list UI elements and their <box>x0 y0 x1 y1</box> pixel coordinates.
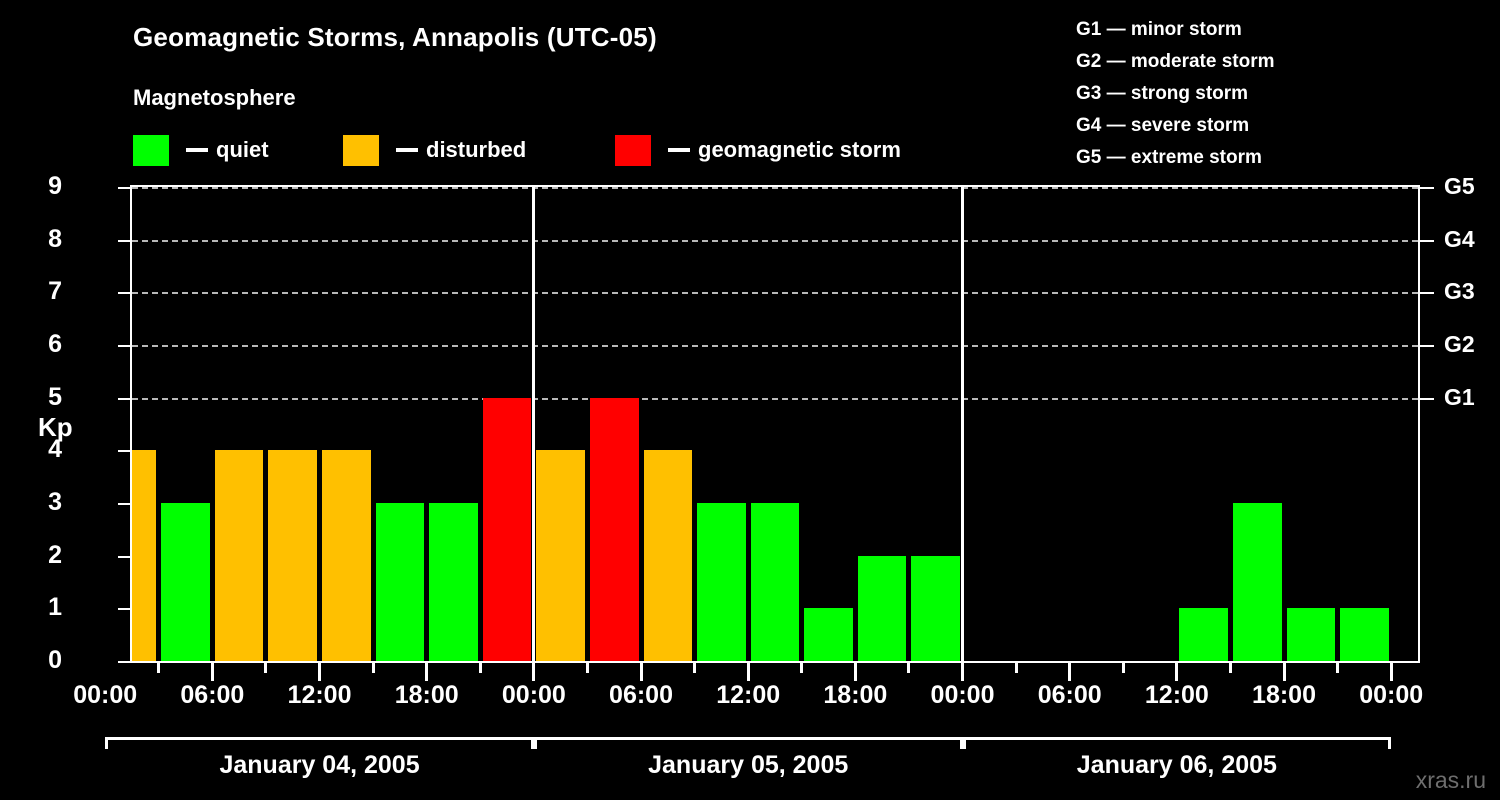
chart-subtitle: Magnetosphere <box>133 85 296 111</box>
bar <box>697 503 746 661</box>
g-tick-mark <box>1420 240 1434 242</box>
g-scale-legend: G1 — minor stormG2 — moderate stormG3 — … <box>1058 14 1478 174</box>
x-tick-minor <box>372 663 375 673</box>
bar <box>858 556 907 661</box>
y-tick-mark <box>118 556 130 558</box>
legend-item-quiet[interactable]: quiet <box>133 133 269 167</box>
legend-swatch-storm <box>615 135 651 166</box>
day-group: January 06, 2005 <box>963 737 1392 797</box>
x-tick-major <box>211 663 214 681</box>
bar <box>215 450 264 661</box>
day-brackets: January 04, 2005January 05, 2005January … <box>130 737 1420 797</box>
legend-item-storm[interactable]: geomagnetic storm <box>615 133 901 167</box>
bar <box>1287 608 1336 661</box>
legend-label-storm: geomagnetic storm <box>698 137 901 163</box>
bar <box>644 450 693 661</box>
y-tick-mark <box>118 345 130 347</box>
bar <box>483 398 532 661</box>
legend-swatch-disturbed <box>343 135 379 166</box>
watermark: xras.ru <box>1416 767 1486 794</box>
gridline-kp-7 <box>132 292 1418 294</box>
bar <box>429 503 478 661</box>
bar <box>322 450 371 661</box>
bar <box>268 450 317 661</box>
bar <box>376 503 425 661</box>
x-tick-label: 00:00 <box>1326 681 1456 710</box>
x-tick-major <box>961 663 964 681</box>
x-tick-minor <box>1229 663 1232 673</box>
legend-item-disturbed[interactable]: disturbed <box>343 133 526 167</box>
g-legend-line-3: G3 — strong storm <box>1058 78 1478 110</box>
x-tick-minor <box>693 663 696 673</box>
legend-swatch-quiet <box>133 135 169 166</box>
bar <box>132 450 156 661</box>
y-tick-label: 3 <box>22 490 62 515</box>
x-tick-major <box>1390 663 1393 681</box>
bar <box>1179 608 1228 661</box>
x-tick-major <box>640 663 643 681</box>
g-tick-mark <box>1420 398 1434 400</box>
x-tick-minor <box>157 663 160 673</box>
g-legend-line-1: G1 — minor storm <box>1058 14 1478 46</box>
y-tick-mark <box>118 292 130 294</box>
y-tick-label: 5 <box>22 385 62 410</box>
day-bracket-line <box>105 737 534 749</box>
bar <box>1233 503 1282 661</box>
g-tick-mark <box>1420 345 1434 347</box>
gridline-kp-5 <box>132 398 1418 400</box>
g-legend-line-5: G5 — extreme storm <box>1058 142 1478 174</box>
x-tick-major <box>425 663 428 681</box>
y-tick-label: 6 <box>22 332 62 357</box>
day-bracket-line <box>534 737 963 749</box>
y-tick-label: 2 <box>22 543 62 568</box>
day-separator <box>961 187 964 661</box>
y-tick-label: 9 <box>22 174 62 199</box>
bar <box>590 398 639 661</box>
bar <box>751 503 800 661</box>
x-tick-major <box>1068 663 1071 681</box>
g-tick-label: G5 <box>1444 175 1475 198</box>
x-tick-minor <box>1015 663 1018 673</box>
bar <box>1340 608 1389 661</box>
g-tick-mark <box>1420 187 1434 189</box>
day-separator <box>532 187 535 661</box>
legend-label-disturbed: disturbed <box>426 137 526 163</box>
day-label: January 06, 2005 <box>963 751 1392 780</box>
legend-dash-icon <box>668 148 690 152</box>
legend-dash-icon <box>186 148 208 152</box>
x-tick-minor <box>586 663 589 673</box>
chart-plot-area <box>130 185 1420 663</box>
x-tick-minor <box>800 663 803 673</box>
x-tick-minor <box>1122 663 1125 673</box>
bar <box>911 556 960 661</box>
day-group: January 05, 2005 <box>534 737 963 797</box>
y-tick-mark <box>118 240 130 242</box>
x-tick-major <box>532 663 535 681</box>
x-tick-major <box>1283 663 1286 681</box>
g-tick-label: G2 <box>1444 333 1475 356</box>
x-tick-minor <box>907 663 910 673</box>
y-tick-mark <box>118 608 130 610</box>
y-axis-label: Kp <box>38 412 73 443</box>
y-tick-mark <box>118 661 130 663</box>
page-title: Geomagnetic Storms, Annapolis (UTC-05) <box>133 22 657 53</box>
y-tick-mark <box>118 450 130 452</box>
g-tick-label: G4 <box>1444 228 1475 251</box>
y-tick-label: 8 <box>22 227 62 252</box>
day-bracket-line <box>963 737 1392 749</box>
x-axis: 00:0006:0012:0018:0000:0006:0012:0018:00… <box>130 663 1420 721</box>
day-group: January 04, 2005 <box>105 737 534 797</box>
x-tick-minor <box>479 663 482 673</box>
day-label: January 04, 2005 <box>105 751 534 780</box>
y-tick-mark <box>118 398 130 400</box>
bar <box>804 608 853 661</box>
x-tick-major <box>1175 663 1178 681</box>
x-tick-major <box>747 663 750 681</box>
gridline-kp-9 <box>132 187 1418 189</box>
y-tick-label: 0 <box>22 648 62 673</box>
gridline-kp-8 <box>132 240 1418 242</box>
x-tick-major <box>854 663 857 681</box>
y-tick-label: 1 <box>22 595 62 620</box>
x-tick-minor <box>264 663 267 673</box>
legend-label-quiet: quiet <box>216 137 269 163</box>
g-tick-mark <box>1420 292 1434 294</box>
y-tick-mark <box>118 503 130 505</box>
x-tick-minor <box>1336 663 1339 673</box>
g-legend-line-4: G4 — severe storm <box>1058 110 1478 142</box>
bar <box>536 450 585 661</box>
gridline-kp-6 <box>132 345 1418 347</box>
y-tick-mark <box>118 187 130 189</box>
g-tick-label: G1 <box>1444 386 1475 409</box>
day-label: January 05, 2005 <box>534 751 963 780</box>
x-tick-major <box>318 663 321 681</box>
bar <box>161 503 210 661</box>
g-tick-label: G3 <box>1444 280 1475 303</box>
y-tick-label: 7 <box>22 279 62 304</box>
legend-dash-icon <box>396 148 418 152</box>
g-legend-line-2: G2 — moderate storm <box>1058 46 1478 78</box>
